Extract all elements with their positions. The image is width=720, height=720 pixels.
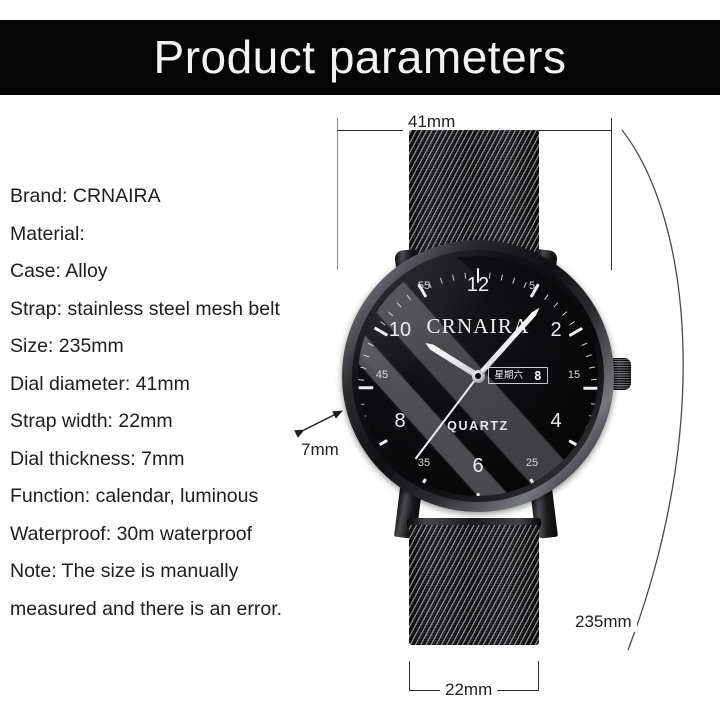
dial-tick-minor (360, 366, 366, 369)
minute-numeral-35: 35 (413, 458, 435, 469)
dial-tick-minor (582, 343, 588, 347)
watch-dial: 12 2 4 6 8 10 5 15 25 35 45 55 CRNAIRA Q… (358, 256, 598, 496)
dial-tick-minor (554, 476, 559, 481)
watch-product-image: 12 2 4 6 8 10 5 15 25 35 45 55 CRNAIRA Q… (337, 130, 637, 650)
mesh-strap-bottom (409, 525, 539, 645)
dial-tick-minor (589, 366, 595, 369)
dial-tick-minor (407, 295, 412, 301)
spec-line-brand: Brand: CRNAIRA (10, 178, 340, 216)
spec-line-strap: Strap: stainless steel mesh belt (10, 291, 340, 329)
spec-line-dial-thickness: Dial thickness: 7mm (10, 441, 340, 479)
minute-numeral-5: 5 (521, 281, 543, 292)
dial-tick-minor (591, 379, 597, 381)
minute-numeral-15: 15 (563, 370, 585, 381)
watch-case: 12 2 4 6 8 10 5 15 25 35 45 55 CRNAIRA Q… (342, 240, 614, 512)
dial-tick-major (358, 387, 373, 390)
dial-tick-minor (586, 354, 592, 357)
dial-tick-minor (397, 476, 402, 481)
specification-list: Brand: CRNAIRA Material: Case: Alloy Str… (10, 178, 340, 628)
dial-brand-text: CRNAIRA (358, 314, 598, 339)
dial-tick-major (373, 439, 387, 449)
day-date-window: 星期六 8 (488, 367, 548, 384)
product-parameters-page: Product parameters Brand: CRNAIRA Materi… (0, 0, 720, 720)
dial-tick-major (529, 478, 539, 492)
dial-tick-minor (452, 274, 455, 280)
spec-line-note-1: Note: The size is manually (10, 553, 340, 591)
dial-tick-major (568, 439, 582, 449)
dial-tick-minor (368, 438, 374, 442)
spec-line-dial-diameter: Dial diameter: 41mm (10, 366, 340, 404)
spec-line-size: Size: 235mm (10, 328, 340, 366)
dial-movement-text: QUARTZ (358, 419, 598, 433)
hour-numeral-12: 12 (463, 275, 493, 295)
dial-tick-minor (407, 484, 412, 490)
hour-numeral-6: 6 (463, 456, 493, 476)
dial-tick-minor (360, 415, 366, 418)
hands-center-pin (475, 373, 481, 379)
spec-line-material: Material: (10, 216, 340, 254)
dial-tick-minor (359, 403, 365, 405)
dimension-label-22mm: 22mm (440, 680, 497, 700)
dial-tick-minor (440, 278, 443, 284)
dial-tick-minor (368, 343, 374, 347)
dial-tick-minor (513, 278, 516, 284)
dial-tick-minor (570, 458, 576, 463)
dial-tick-minor (582, 438, 588, 442)
spec-line-case: Case: Alloy (10, 253, 340, 291)
dial-tick-minor (554, 302, 559, 307)
watch-bezel: 12 2 4 6 8 10 5 15 25 35 45 55 CRNAIRA Q… (352, 250, 604, 502)
dial-tick-minor (364, 354, 370, 357)
watch-crown (611, 358, 631, 390)
dial-tick-minor (397, 302, 402, 307)
minute-numeral-55: 55 (413, 281, 435, 292)
spec-line-function: Function: calendar, luminous (10, 478, 340, 516)
dial-tick-minor (388, 468, 393, 473)
dial-tick-minor (381, 458, 387, 463)
dial-tick-minor (359, 379, 365, 381)
spec-line-note-2: measured and there is an error. (10, 591, 340, 629)
page-title: Product parameters (0, 20, 720, 95)
dial-tick-minor (589, 415, 595, 418)
dial-tick-minor (501, 274, 504, 280)
dimension-tick-left-22mm (409, 661, 410, 691)
date-value: 8 (534, 370, 542, 382)
spec-line-strap-width: Strap width: 22mm (10, 403, 340, 441)
minute-numeral-45: 45 (371, 370, 393, 381)
dial-tick-minor (562, 468, 567, 473)
spec-line-waterproof: Waterproof: 30m waterproof (10, 516, 340, 554)
dial-tick-minor (544, 295, 549, 301)
dial-tick-minor (591, 403, 597, 405)
dial-tick-minor (544, 484, 549, 490)
dial-tick-major (583, 387, 598, 390)
dial-tick-major (417, 478, 427, 492)
dimension-tick-right-22mm (538, 661, 539, 691)
dial-tick-major (477, 493, 480, 496)
minute-numeral-25: 25 (521, 458, 543, 469)
day-of-week-value: 星期六 (494, 371, 523, 381)
dimension-label-41mm: 41mm (403, 112, 460, 132)
